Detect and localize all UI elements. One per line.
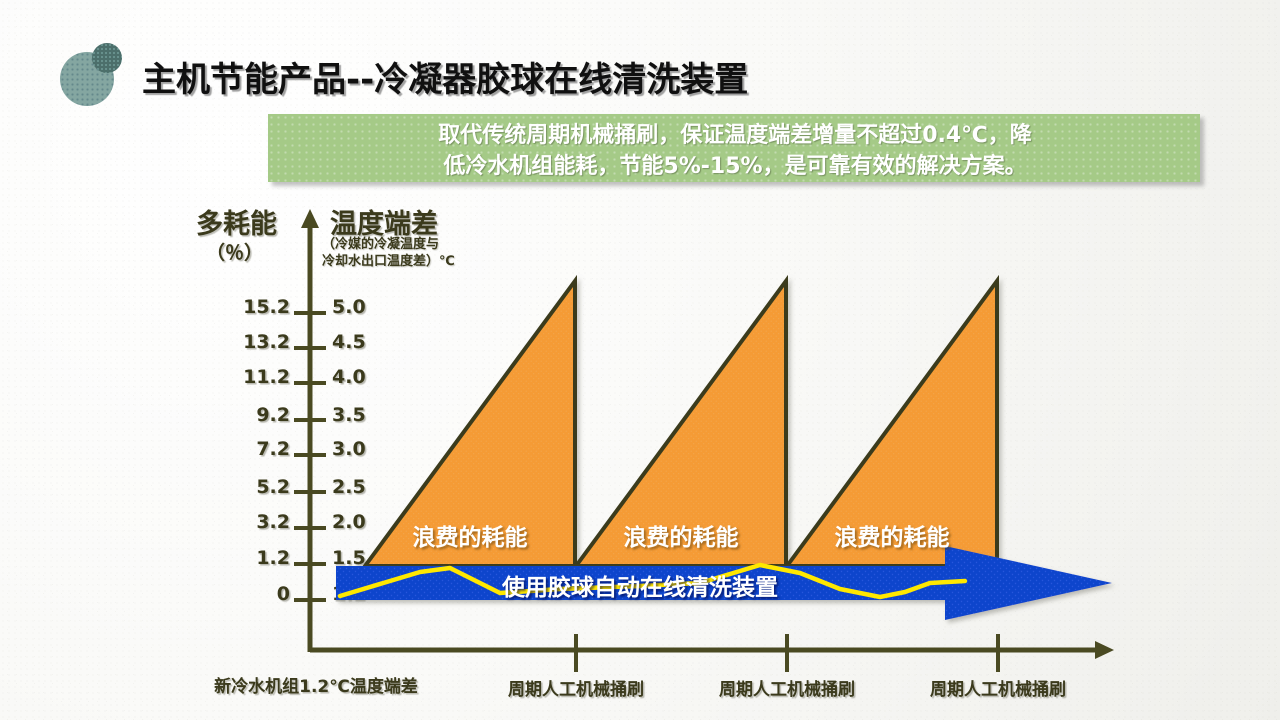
x-category-label-0: 新冷水机组1.2℃温度端差 (186, 672, 446, 697)
sawtooth-label-2: 浪费的耗能 (576, 518, 786, 552)
x-category-label-3: 周期人工机械捅刷 (898, 675, 1098, 700)
sawtooth-label-1: 浪费的耗能 (365, 518, 575, 552)
x-axis (310, 641, 1114, 659)
sawtooth-label-3: 浪费的耗能 (787, 518, 997, 552)
baseline-band-label: 使用胶球自动在线清洗装置 (0, 568, 1280, 602)
x-category-label-2: 周期人工机械捅刷 (687, 675, 887, 700)
chart-canvas (0, 0, 1280, 720)
x-axis-ticks (576, 634, 998, 672)
x-category-label-1: 周期人工机械捅刷 (476, 675, 676, 700)
